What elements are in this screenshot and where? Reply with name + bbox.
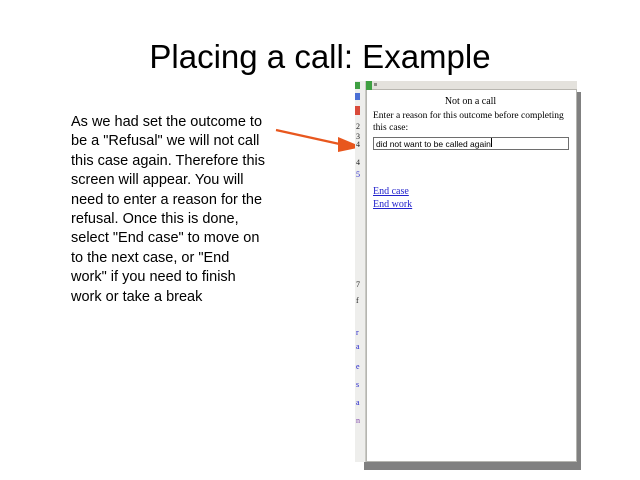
gutter-color-chip [355,106,360,115]
captured-page-content: Not on a call Enter a reason for this ou… [367,90,576,461]
gutter-text-fragment: r [356,329,365,337]
reason-input[interactable]: did not want to be called again [373,137,569,150]
gutter-text-fragment: 4 [356,141,365,149]
text-caret [491,138,492,147]
gutter-color-chip [355,93,360,100]
gutter-text-fragment: 3 [356,133,365,141]
captured-window-frame: Not on a call Enter a reason for this ou… [366,90,577,462]
gutter-text-fragment: 2 [356,123,365,131]
call-status-heading: Not on a call [373,96,568,108]
scrollbar-thumb[interactable] [374,83,377,86]
end-case-link[interactable]: End case [373,185,568,198]
scrollbar-green-marker [366,81,372,90]
gutter-text-fragment: e [356,363,365,371]
gutter-text-fragment: n [356,417,365,425]
end-work-link[interactable]: End work [373,198,568,211]
gutter-text-fragment: f [356,297,365,305]
clipped-sidebar-gutter: 234457fraesan [355,81,366,462]
gutter-text-fragment: 7 [356,281,365,289]
callout-arrow-icon [274,120,366,154]
reason-input-value: did not want to be called again [376,138,491,150]
gutter-text-fragment: a [356,343,365,351]
gutter-text-fragment: a [356,399,365,407]
reason-instruction-label: Enter a reason for this outcome before c… [373,111,568,134]
gutter-text-fragment: 5 [356,171,365,179]
embedded-screenshot-panel: 234457fraesan Not on a call Enter a reas… [355,81,577,462]
panel-top-scrollbar[interactable] [366,81,577,90]
gutter-color-chip [355,82,360,89]
page-title: Placing a call: Example [0,38,640,76]
panel-shadow-bottom [364,461,581,470]
action-links-group: End case End work [373,185,568,211]
slide-body-text: As we had set the outcome to be a "Refus… [71,113,266,307]
gutter-text-fragment: 4 [356,159,365,167]
gutter-text-fragment: s [356,381,365,389]
